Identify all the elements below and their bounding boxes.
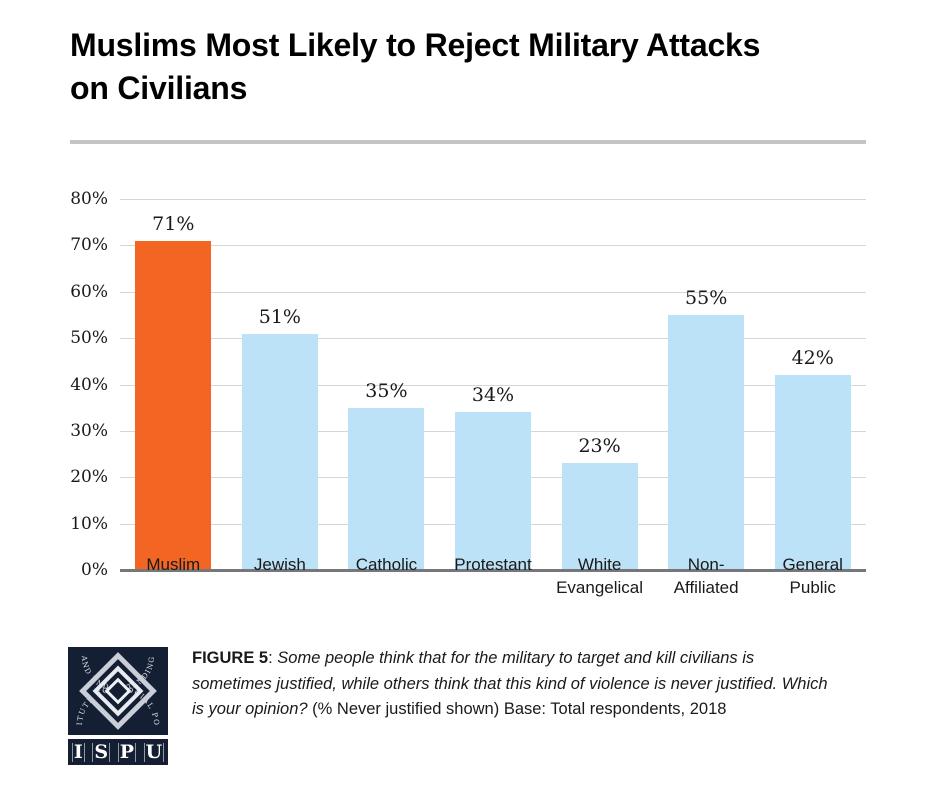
figure-footer: INSTITUTE FOR SOCIAL POLICY AND UNDERSTA… xyxy=(0,640,941,789)
bar-value-label: 34% xyxy=(472,384,514,406)
x-axis-category-label: Muslim xyxy=(113,554,233,577)
x-axis-category-label: General Public xyxy=(753,554,873,600)
bar[interactable]: 23% xyxy=(562,199,638,570)
page-title: Muslims Most Likely to Reject Military A… xyxy=(70,24,870,109)
caption-label: FIGURE 5 xyxy=(192,649,268,667)
logo-emblem-icon: INSTITUTE FOR SOCIAL POLICY AND UNDERSTA… xyxy=(68,647,168,735)
y-axis-tick-label: 50% xyxy=(48,328,108,348)
y-axis-tick-label: 70% xyxy=(48,235,108,255)
logo-letter: U xyxy=(144,743,165,762)
bar[interactable]: 34% xyxy=(455,199,531,570)
bar-rect xyxy=(455,412,531,570)
ispu-logo: INSTITUTE FOR SOCIAL POLICY AND UNDERSTA… xyxy=(66,645,170,767)
bar[interactable]: 42% xyxy=(775,199,851,570)
title-divider xyxy=(70,140,866,144)
x-axis-category-label: Protestant xyxy=(433,554,553,577)
y-axis-tick-label: 20% xyxy=(48,467,108,487)
caption-note: (% Never justified shown) Base: Total re… xyxy=(308,700,727,718)
bar-value-label: 55% xyxy=(685,287,727,309)
caption-separator: : xyxy=(268,649,277,667)
bar-rect xyxy=(348,408,424,570)
title-block: Muslims Most Likely to Reject Military A… xyxy=(70,24,870,109)
bar[interactable]: 51% xyxy=(242,199,318,570)
bar[interactable]: 55% xyxy=(668,199,744,570)
bar-value-label: 71% xyxy=(152,213,194,235)
y-axis-labels: 80%70%60%50%40%30%20%10%0% xyxy=(46,199,108,570)
bar-rect xyxy=(135,241,211,570)
bar-value-label: 35% xyxy=(365,380,407,402)
logo-letter: I xyxy=(72,743,85,762)
bar-value-label: 51% xyxy=(259,306,301,328)
y-axis-tick-label: 40% xyxy=(48,375,108,395)
y-axis-tick-label: 10% xyxy=(48,514,108,534)
logo-letter: S xyxy=(92,743,110,762)
x-axis-category-label: Jewish xyxy=(220,554,340,577)
bar-rect xyxy=(242,334,318,571)
bar-value-label: 23% xyxy=(578,435,620,457)
x-axis-category-label: White Evangelical xyxy=(540,554,660,600)
logo-wordmark: ISPU xyxy=(66,737,170,767)
bar-rect xyxy=(775,375,851,570)
plot-area: 71%51%35%34%23%55%42% xyxy=(120,199,866,570)
logo-letter: P xyxy=(118,743,136,762)
y-axis-tick-label: 0% xyxy=(48,560,108,580)
y-axis-tick-label: 30% xyxy=(48,421,108,441)
bar-value-label: 42% xyxy=(792,347,834,369)
bar[interactable]: 71% xyxy=(135,199,211,570)
logo-badge: INSTITUTE FOR SOCIAL POLICY AND UNDERSTA… xyxy=(66,645,170,737)
figure-caption: FIGURE 5: Some people think that for the… xyxy=(192,646,837,723)
bar-rect xyxy=(668,315,744,570)
x-axis-category-label: Catholic xyxy=(326,554,446,577)
x-axis-category-label: Non- Affiliated xyxy=(646,554,766,600)
y-axis-tick-label: 60% xyxy=(48,282,108,302)
y-axis-tick-label: 80% xyxy=(48,189,108,209)
bar[interactable]: 35% xyxy=(348,199,424,570)
bar-chart: 80%70%60%50%40%30%20%10%0% 71%51%35%34%2… xyxy=(0,170,941,640)
